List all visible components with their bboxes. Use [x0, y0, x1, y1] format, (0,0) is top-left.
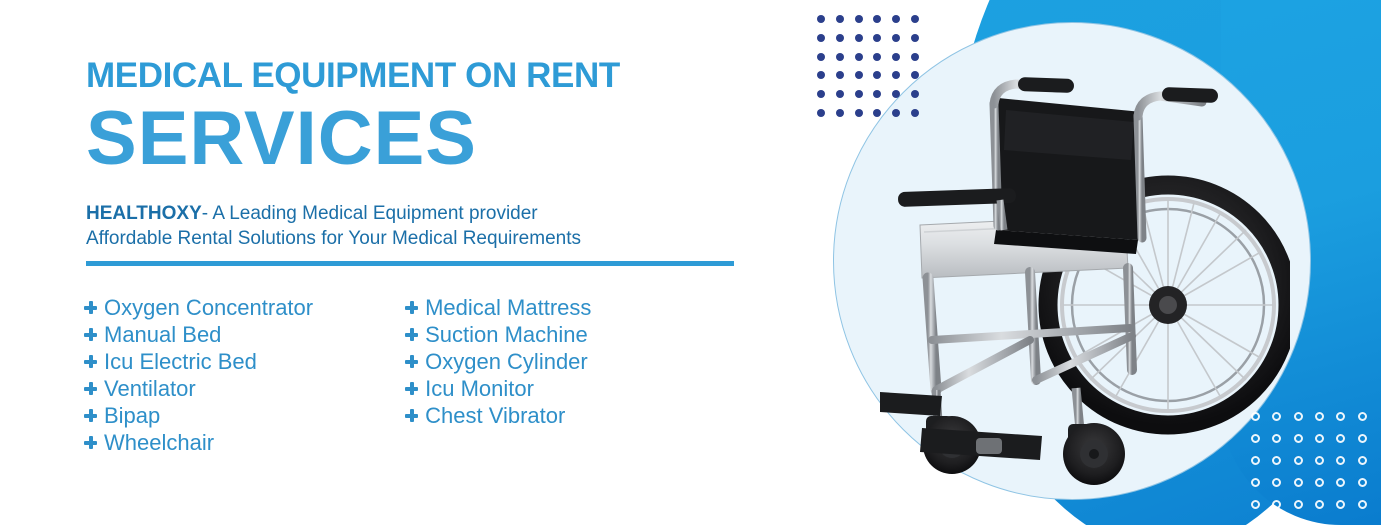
dot	[1315, 456, 1324, 465]
feature-lists: Oxygen Concentrator Manual Bed Icu Elect…	[84, 294, 591, 456]
brand-name: HEALTHOXY	[86, 203, 202, 224]
list-item[interactable]: Ventilator	[84, 375, 313, 402]
dot	[817, 71, 825, 79]
dot	[911, 15, 919, 23]
plus-icon	[405, 301, 418, 314]
list-item-label: Chest Vibrator	[425, 403, 565, 429]
dot	[817, 15, 825, 23]
feature-column-right: Medical Mattress Suction Machine Oxygen …	[405, 294, 591, 456]
plus-icon	[405, 382, 418, 395]
list-item[interactable]: Oxygen Concentrator	[84, 294, 313, 321]
subtitle: HEALTHOXY- A Leading Medical Equipment p…	[86, 201, 786, 252]
dot	[1315, 500, 1324, 509]
dot	[892, 15, 900, 23]
list-item-label: Icu Monitor	[425, 376, 534, 402]
dot	[836, 15, 844, 23]
dot	[817, 34, 825, 42]
dot	[1315, 434, 1324, 443]
list-item-label: Oxygen Concentrator	[104, 295, 313, 321]
dot	[1315, 412, 1324, 421]
dot	[1294, 478, 1303, 487]
frame	[928, 268, 1132, 390]
list-item[interactable]: Icu Monitor	[405, 375, 591, 402]
plus-icon	[84, 409, 97, 422]
dot	[1358, 500, 1367, 509]
dot	[855, 109, 863, 117]
dot	[855, 53, 863, 61]
promo-banner: MEDICAL EQUIPMENT ON RENT SERVICES HEALT…	[0, 0, 1381, 525]
dot	[1336, 456, 1345, 465]
subtitle-line-2: Affordable Rental Solutions for Your Med…	[86, 226, 786, 252]
backrest	[994, 98, 1142, 254]
plus-icon	[84, 436, 97, 449]
eyebrow-heading: MEDICAL EQUIPMENT ON RENT	[86, 58, 786, 93]
list-item-label: Ventilator	[104, 376, 196, 402]
dot	[855, 34, 863, 42]
dot	[1294, 500, 1303, 509]
plus-icon	[84, 355, 97, 368]
list-item[interactable]: Oxygen Cylinder	[405, 348, 591, 375]
dot	[1358, 412, 1367, 421]
divider	[86, 261, 734, 266]
dot	[1336, 500, 1345, 509]
dot	[1315, 478, 1324, 487]
dot	[817, 109, 825, 117]
plus-icon	[405, 409, 418, 422]
plus-icon	[405, 328, 418, 341]
list-item[interactable]: Suction Machine	[405, 321, 591, 348]
dot	[836, 90, 844, 98]
dot	[1272, 500, 1281, 509]
dot	[817, 90, 825, 98]
dot	[1294, 456, 1303, 465]
list-item[interactable]: Wheelchair	[84, 429, 313, 456]
dot	[817, 53, 825, 61]
dot	[836, 34, 844, 42]
list-item[interactable]: Chest Vibrator	[405, 402, 591, 429]
dot	[1358, 434, 1367, 443]
list-item-label: Oxygen Cylinder	[425, 349, 588, 375]
dot	[1336, 478, 1345, 487]
dot	[836, 53, 844, 61]
list-item-label: Manual Bed	[104, 322, 221, 348]
dot	[836, 71, 844, 79]
dot	[1336, 412, 1345, 421]
dot	[855, 15, 863, 23]
subtitle-line-1: HEALTHOXY- A Leading Medical Equipment p…	[86, 201, 786, 227]
list-item[interactable]: Bipap	[84, 402, 313, 429]
dot	[1294, 412, 1303, 421]
text-content: MEDICAL EQUIPMENT ON RENT SERVICES HEALT…	[86, 58, 786, 266]
list-item[interactable]: Medical Mattress	[405, 294, 591, 321]
dot	[1336, 434, 1345, 443]
list-item-label: Medical Mattress	[425, 295, 591, 321]
page-title: SERVICES	[86, 99, 786, 179]
plus-icon	[84, 328, 97, 341]
feature-column-left: Oxygen Concentrator Manual Bed Icu Elect…	[84, 294, 313, 456]
plus-icon	[405, 355, 418, 368]
list-item-label: Bipap	[104, 403, 160, 429]
dot	[1251, 500, 1260, 509]
dot	[1358, 456, 1367, 465]
dot	[855, 71, 863, 79]
list-item-label: Wheelchair	[104, 430, 214, 456]
plus-icon	[84, 301, 97, 314]
list-item[interactable]: Icu Electric Bed	[84, 348, 313, 375]
subtitle-line-1-rest: - A Leading Medical Equipment provider	[202, 203, 538, 224]
list-item-label: Icu Electric Bed	[104, 349, 257, 375]
list-item[interactable]: Manual Bed	[84, 321, 313, 348]
dot	[873, 15, 881, 23]
list-item-label: Suction Machine	[425, 322, 588, 348]
wheelchair-image	[880, 40, 1290, 490]
dot	[855, 90, 863, 98]
dot	[1358, 478, 1367, 487]
dot	[1294, 434, 1303, 443]
dot	[836, 109, 844, 117]
plus-icon	[84, 382, 97, 395]
